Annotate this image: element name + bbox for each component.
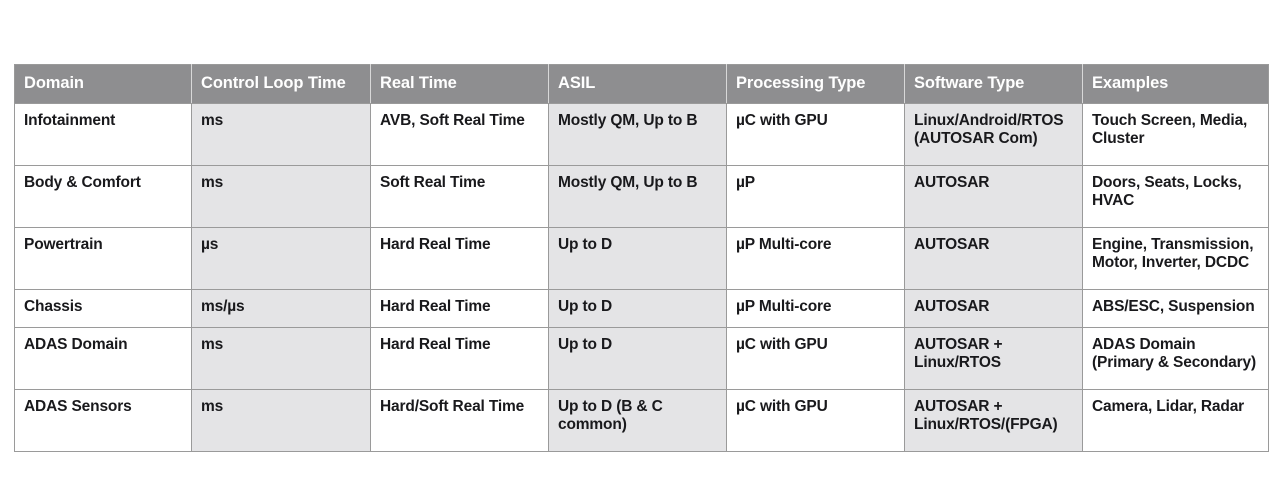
cell-software-type: AUTOSAR: [905, 166, 1083, 228]
table-row: Infotainment ms AVB, Soft Real Time Most…: [15, 104, 1269, 166]
cell-software-type: Linux/Android/RTOS (AUTOSAR Com): [905, 104, 1083, 166]
cell-real-time: Hard Real Time: [371, 228, 549, 290]
column-header-examples: Examples: [1083, 65, 1269, 104]
column-header-software-type: Software Type: [905, 65, 1083, 104]
table-header-row: Domain Control Loop Time Real Time ASIL …: [15, 65, 1269, 104]
cell-processing-type: µC with GPU: [727, 104, 905, 166]
cell-examples: ADAS Domain (Primary & Secondary): [1083, 328, 1269, 390]
cell-real-time: Hard/Soft Real Time: [371, 390, 549, 452]
cell-software-type: AUTOSAR + Linux/RTOS: [905, 328, 1083, 390]
domain-comparison-table-container: Domain Control Loop Time Real Time ASIL …: [14, 64, 1268, 452]
table-row: Chassis ms/µs Hard Real Time Up to D µP …: [15, 290, 1269, 328]
table-header: Domain Control Loop Time Real Time ASIL …: [15, 65, 1269, 104]
cell-processing-type: µC with GPU: [727, 390, 905, 452]
column-header-control-loop-time: Control Loop Time: [192, 65, 371, 104]
cell-asil: Up to D (B & C common): [549, 390, 727, 452]
cell-processing-type: µC with GPU: [727, 328, 905, 390]
cell-control-loop-time: ms: [192, 390, 371, 452]
cell-examples: ABS/ESC, Suspension: [1083, 290, 1269, 328]
cell-real-time: Soft Real Time: [371, 166, 549, 228]
cell-domain: Powertrain: [15, 228, 192, 290]
column-header-asil: ASIL: [549, 65, 727, 104]
table-row: Powertrain µs Hard Real Time Up to D µP …: [15, 228, 1269, 290]
cell-asil: Up to D: [549, 228, 727, 290]
cell-control-loop-time: ms/µs: [192, 290, 371, 328]
cell-domain: Body & Comfort: [15, 166, 192, 228]
cell-domain: Chassis: [15, 290, 192, 328]
cell-asil: Mostly QM, Up to B: [549, 104, 727, 166]
cell-control-loop-time: µs: [192, 228, 371, 290]
cell-software-type: AUTOSAR: [905, 228, 1083, 290]
cell-processing-type: µP Multi-core: [727, 290, 905, 328]
table-row: Body & Comfort ms Soft Real Time Mostly …: [15, 166, 1269, 228]
cell-real-time: Hard Real Time: [371, 328, 549, 390]
cell-domain: ADAS Domain: [15, 328, 192, 390]
cell-processing-type: µP: [727, 166, 905, 228]
cell-asil: Up to D: [549, 290, 727, 328]
cell-software-type: AUTOSAR: [905, 290, 1083, 328]
cell-domain: Infotainment: [15, 104, 192, 166]
cell-asil: Up to D: [549, 328, 727, 390]
cell-real-time: Hard Real Time: [371, 290, 549, 328]
column-header-real-time: Real Time: [371, 65, 549, 104]
cell-domain: ADAS Sensors: [15, 390, 192, 452]
cell-processing-type: µP Multi-core: [727, 228, 905, 290]
cell-examples: Camera, Lidar, Radar: [1083, 390, 1269, 452]
cell-examples: Touch Screen, Media, Cluster: [1083, 104, 1269, 166]
cell-control-loop-time: ms: [192, 328, 371, 390]
cell-real-time: AVB, Soft Real Time: [371, 104, 549, 166]
table-row: ADAS Domain ms Hard Real Time Up to D µC…: [15, 328, 1269, 390]
domain-comparison-table: Domain Control Loop Time Real Time ASIL …: [14, 64, 1269, 452]
cell-software-type: AUTOSAR + Linux/RTOS/(FPGA): [905, 390, 1083, 452]
column-header-processing-type: Processing Type: [727, 65, 905, 104]
cell-control-loop-time: ms: [192, 104, 371, 166]
table-body: Infotainment ms AVB, Soft Real Time Most…: [15, 104, 1269, 452]
cell-asil: Mostly QM, Up to B: [549, 166, 727, 228]
table-row: ADAS Sensors ms Hard/Soft Real Time Up t…: [15, 390, 1269, 452]
cell-examples: Engine, Transmission, Motor, Inverter, D…: [1083, 228, 1269, 290]
cell-control-loop-time: ms: [192, 166, 371, 228]
column-header-domain: Domain: [15, 65, 192, 104]
cell-examples: Doors, Seats, Locks, HVAC: [1083, 166, 1269, 228]
